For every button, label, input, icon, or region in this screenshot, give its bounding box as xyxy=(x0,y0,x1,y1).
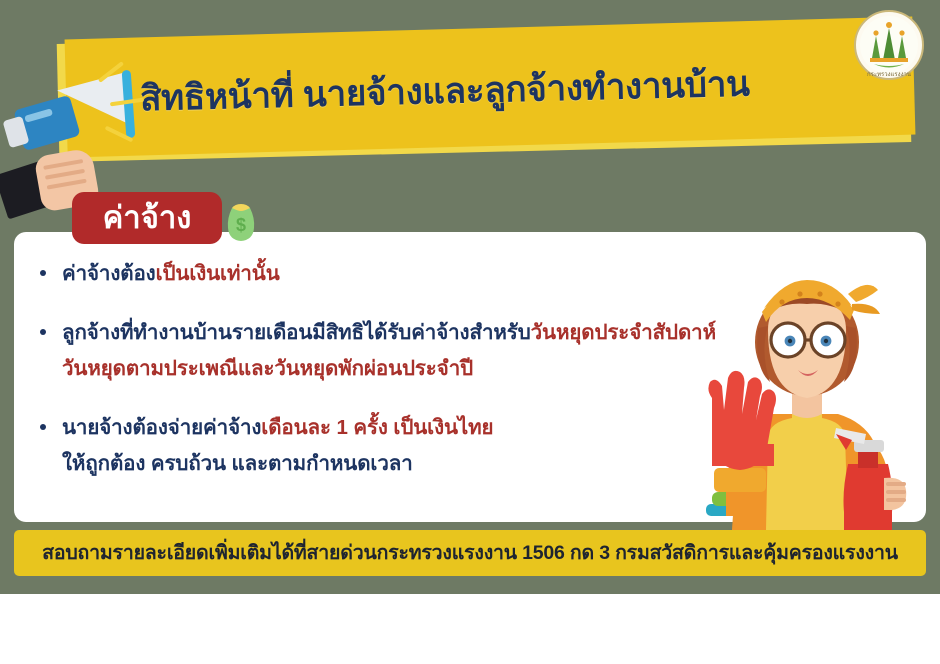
bullet-line: ลูกจ้างที่ทำงานบ้านรายเดือนมีสิทธิได้รับ… xyxy=(62,315,780,350)
bullet-text-red: เดือนละ 1 ครั้ง เป็นเงินไทย xyxy=(261,416,493,439)
bullet-text-red: เป็นเงินเท่านั้น xyxy=(156,262,280,285)
bullet-text-navy: ลูกจ้างที่ทำงานบ้านรายเดือนมีสิทธิได้รับ… xyxy=(62,321,531,344)
money-bag-icon: $ xyxy=(218,196,264,244)
header-section: สิทธิหน้าที่ นายจ้างและลูกจ้างทำงานบ้าน … xyxy=(0,0,940,190)
bullet-text-navy: ให้ถูกต้อง ครบถ้วน และตามกำหนดเวลา xyxy=(62,452,413,475)
bullet-item: ค่าจ้างต้องเป็นเงินเท่านั้น xyxy=(40,256,780,291)
housemaid-illustration xyxy=(688,268,940,530)
section-badge-label: ค่าจ้าง xyxy=(103,192,192,244)
megaphone-icon xyxy=(0,60,170,210)
hotline-banner-text: สอบถามรายละเอียดเพิ่มเติมได้ที่สายด่วนกร… xyxy=(42,530,898,576)
bullet-text-navy: นายจ้างต้องจ่ายค่าจ้าง xyxy=(62,416,261,439)
svg-text:$: $ xyxy=(236,215,246,235)
bullet-text-red: วันหยุดตามประเพณีและวันหยุดพักผ่อนประจำป… xyxy=(62,357,473,380)
bullet-line: วันหยุดตามประเพณีและวันหยุดพักผ่อนประจำป… xyxy=(62,351,780,386)
hotline-banner: สอบถามรายละเอียดเพิ่มเติมได้ที่สายด่วนกร… xyxy=(14,530,926,576)
bullet-line: ค่าจ้างต้องเป็นเงินเท่านั้น xyxy=(62,256,780,291)
bullet-item: ลูกจ้างที่ทำงานบ้านรายเดือนมีสิทธิได้รับ… xyxy=(40,315,780,386)
bullet-text-navy: ค่าจ้างต้อง xyxy=(62,262,156,285)
bullet-item: นายจ้างต้องจ่ายค่าจ้างเดือนละ 1 ครั้ง เป… xyxy=(40,410,780,481)
bullet-line: ให้ถูกต้อง ครบถ้วน และตามกำหนดเวลา xyxy=(62,446,780,481)
bullet-line: นายจ้างต้องจ่ายค่าจ้างเดือนละ 1 ครั้ง เป… xyxy=(62,410,780,445)
ministry-emblem-icon: กระทรวงแรงงาน xyxy=(850,6,928,88)
section-badge: ค่าจ้าง xyxy=(72,192,222,244)
infographic-poster: สิทธิหน้าที่ นายจ้างและลูกจ้างทำงานบ้าน … xyxy=(0,0,940,664)
bullet-dot xyxy=(40,270,46,276)
bullet-dot xyxy=(40,329,46,335)
bullet-list: ค่าจ้างต้องเป็นเงินเท่านั้น ลูกจ้างที่ทำ… xyxy=(40,256,780,497)
svg-text:กระทรวงแรงงาน: กระทรวงแรงงาน xyxy=(867,71,911,78)
bullet-dot xyxy=(40,424,46,430)
footer-bar: Facebook กระทรวงแรงงาน Ministry of Labou… xyxy=(0,594,940,664)
